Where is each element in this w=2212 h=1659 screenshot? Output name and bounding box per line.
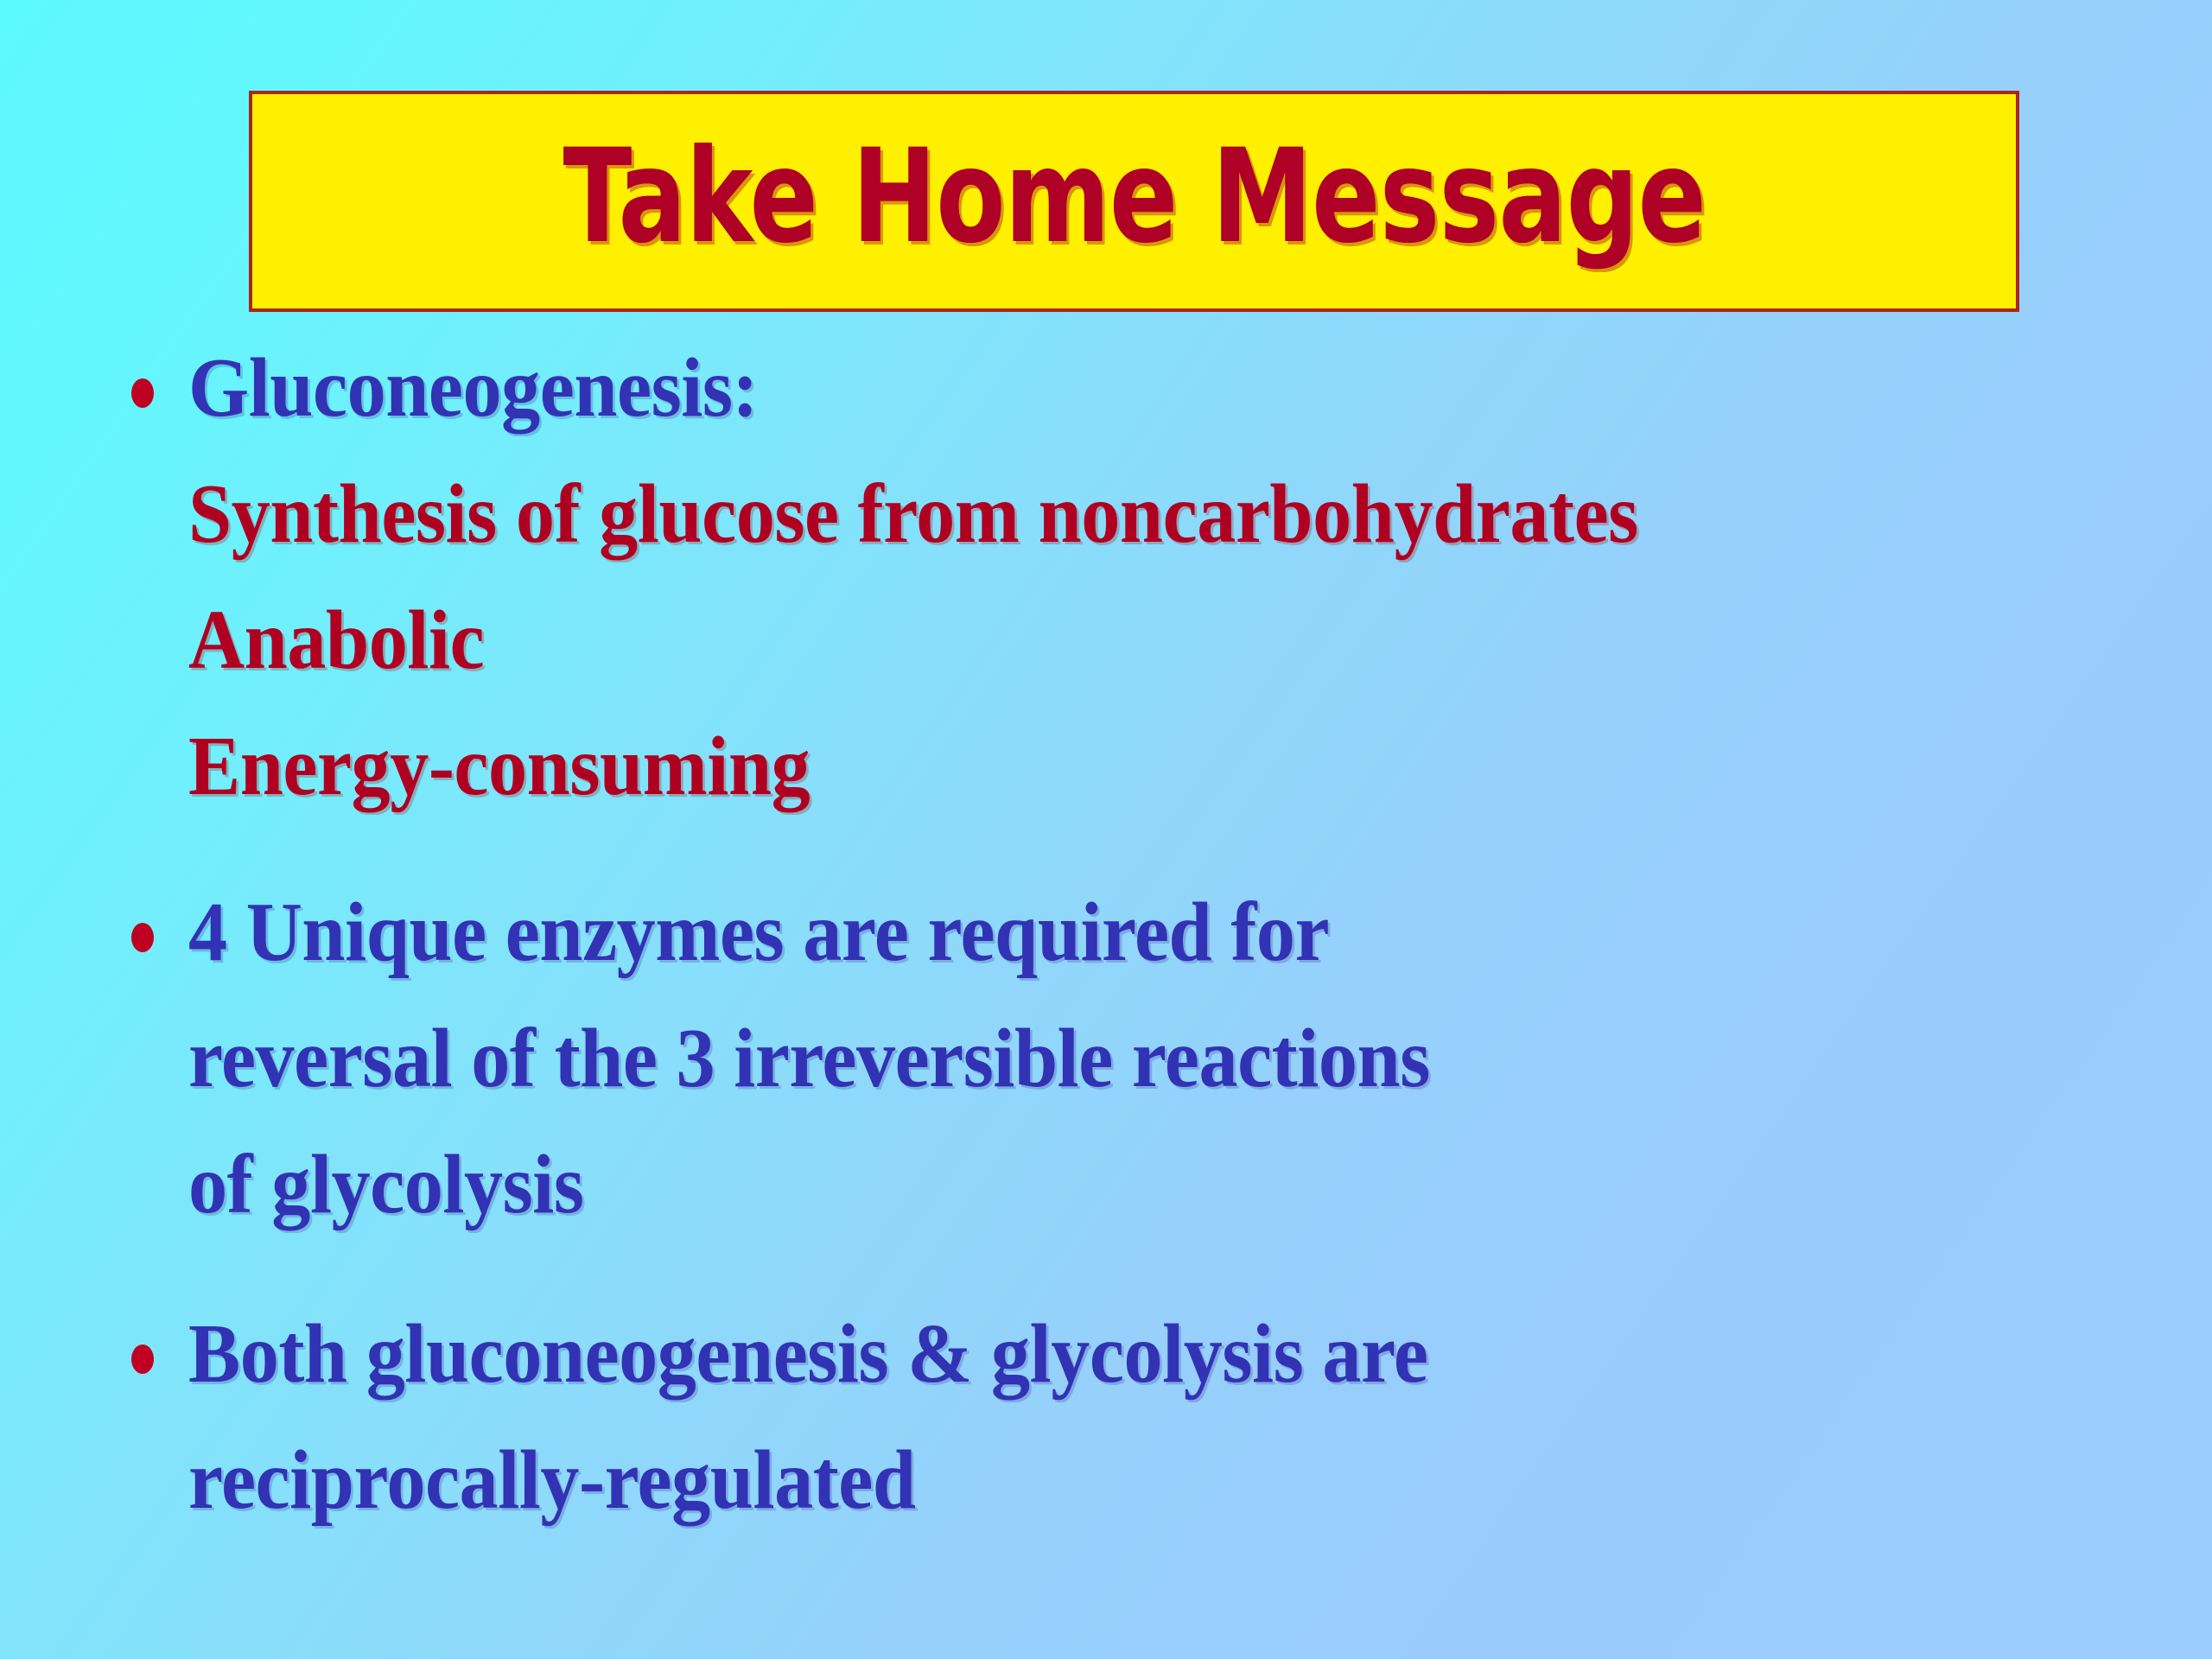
page-title: Take Home Message xyxy=(563,132,1706,270)
bullet-line: reversal of the 3 irreversible reactions xyxy=(0,1016,2212,1103)
bullet-sub-line: Synthesis of glucose from noncarbohydrat… xyxy=(188,472,1638,556)
bullet-line: reciprocally-regulated xyxy=(0,1438,2212,1524)
bullet-line: Anabolic xyxy=(0,598,2212,684)
bullet-line: Gluconeogenesis: xyxy=(0,346,2212,432)
bullet-line: 4 Unique enzymes are required for xyxy=(0,890,2212,976)
round-bullet-icon xyxy=(131,1344,154,1374)
bullet-sub-line: Anabolic xyxy=(188,598,484,682)
bullet-sub-line: Energy-consuming xyxy=(188,724,810,808)
bullet-heading: Both gluconeogenesis & glycolysis are xyxy=(188,1312,1427,1395)
bullet-sub-line: reciprocally-regulated xyxy=(188,1438,916,1522)
bullet-line: of glycolysis xyxy=(0,1142,2212,1229)
slide-canvas: Take Home Message Gluconeogenesis: Synth… xyxy=(0,0,2212,1659)
bullet-sub-line: reversal of the 3 irreversible reactions xyxy=(188,1016,1430,1100)
bullet-line: Both gluconeogenesis & glycolysis are xyxy=(0,1312,2212,1398)
bullet-line: Energy-consuming xyxy=(0,724,2212,810)
title-box: Take Home Message xyxy=(249,91,2019,312)
bullet-line: Synthesis of glucose from noncarbohydrat… xyxy=(0,472,2212,558)
bullet-heading: Gluconeogenesis: xyxy=(188,346,758,429)
slide-body: Gluconeogenesis: Synthesis of glucose fr… xyxy=(0,346,2212,1659)
round-bullet-icon xyxy=(131,378,154,408)
round-bullet-icon xyxy=(131,923,154,952)
bullet-sub-line: of glycolysis xyxy=(188,1142,584,1226)
bullet-heading: 4 Unique enzymes are required for xyxy=(188,890,1329,974)
